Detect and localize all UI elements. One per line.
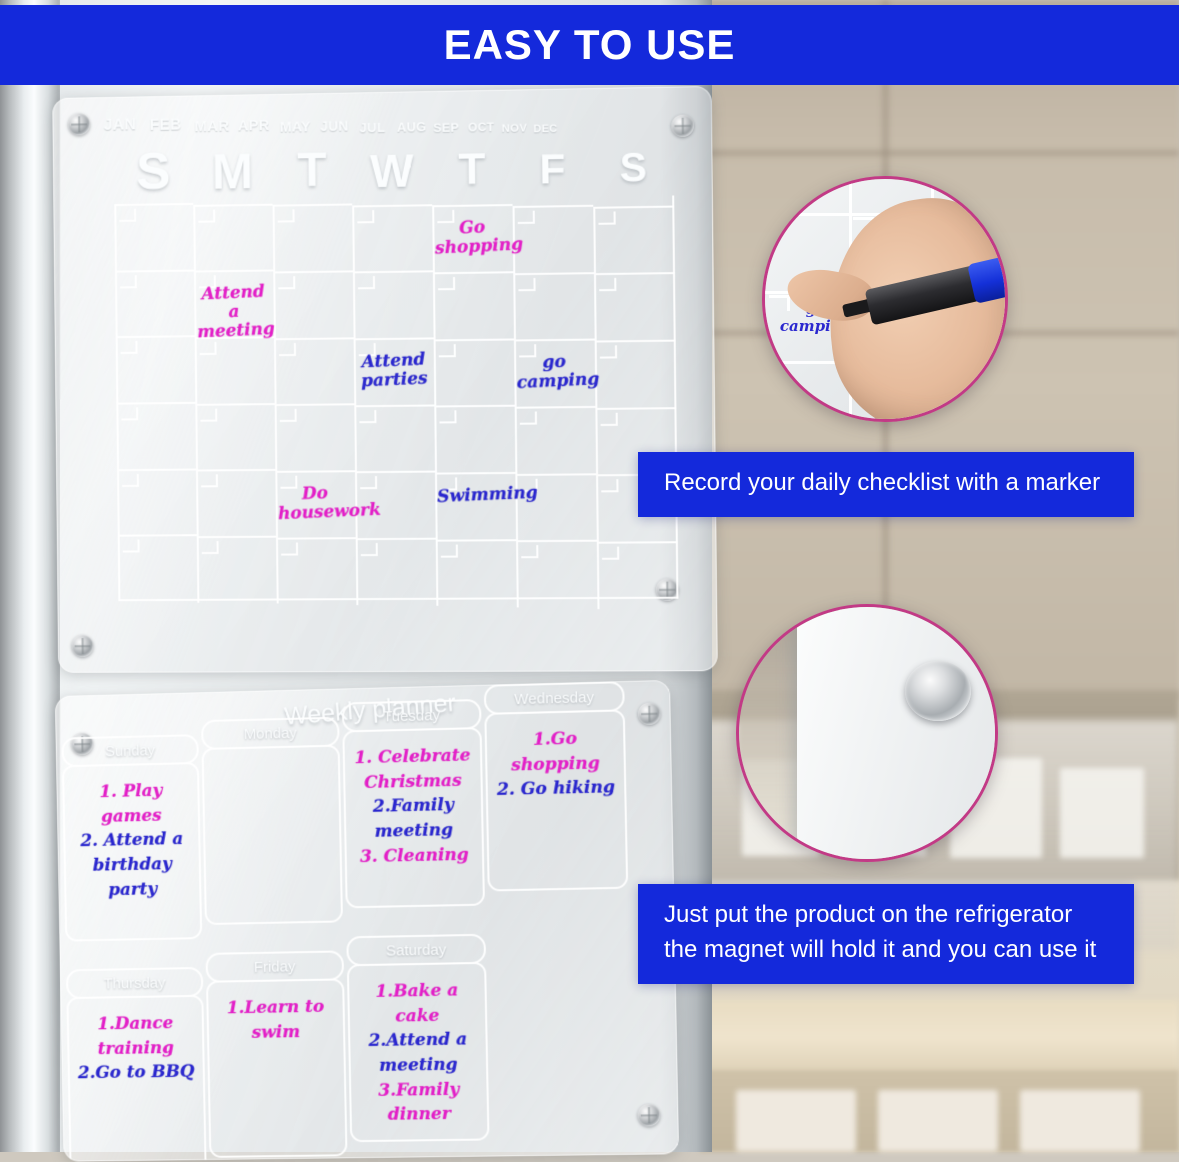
weekly-entry: 1. Celebrate Christmas	[353, 743, 473, 795]
date-number-box	[600, 345, 617, 358]
weekly-entry: 2.Go to BBQ	[77, 1060, 195, 1086]
weekly-planner-board[interactable]: Weekly planner Sunday1. Play games2. Att…	[55, 680, 679, 1162]
calendar-cell[interactable]	[435, 472, 516, 539]
calendar-cell[interactable]	[513, 272, 594, 340]
dow-header-6: S	[592, 133, 674, 197]
cabinet-panel	[1020, 1090, 1140, 1152]
date-number-box	[361, 543, 378, 556]
weekly-day-monday[interactable]: Monday	[201, 717, 343, 925]
weekly-day-thursday[interactable]: Thursday1.Dance training2.Go to BBQ	[66, 967, 207, 1162]
weekly-day-content[interactable]: 1.Bake a cake2.Attend a meeting3.Family …	[347, 962, 490, 1142]
date-number-box	[278, 210, 295, 223]
date-number-box	[601, 479, 618, 492]
calendar-cell[interactable]	[116, 402, 196, 469]
date-number-box	[437, 210, 454, 223]
shelf-box	[1060, 768, 1144, 858]
calendar-cell[interactable]	[116, 336, 196, 403]
inset-magnet-closeup-photo: JA I	[736, 604, 998, 862]
cabinet-panel	[736, 1090, 856, 1152]
date-number-box	[121, 407, 138, 420]
calendar-cell[interactable]	[195, 336, 275, 403]
date-number-box	[600, 412, 617, 425]
weekly-day-content[interactable]: 1.Learn to swim	[206, 978, 347, 1158]
weekly-entry: 1.Dance training	[77, 1011, 195, 1062]
date-number-box	[602, 547, 619, 560]
date-number-box	[121, 341, 138, 354]
weekly-entry: 2.Family meeting	[354, 793, 474, 845]
date-number-box	[520, 412, 537, 425]
monthly-grid[interactable]	[114, 195, 678, 601]
weekly-entry: 2.Attend a meeting	[358, 1027, 478, 1078]
month-label-apr: APR	[238, 118, 270, 134]
calendar-cell[interactable]	[593, 205, 675, 273]
calendar-cell[interactable]	[594, 272, 676, 340]
month-label-jun: JUN	[320, 119, 349, 134]
calendar-cell[interactable]	[433, 271, 514, 339]
calendar-cell[interactable]	[273, 270, 353, 338]
weekly-day-label: Monday	[244, 724, 297, 742]
calendar-cell[interactable]	[432, 204, 513, 272]
calendar-cell[interactable]	[115, 269, 195, 336]
month-label-aug: AUG	[397, 120, 427, 135]
calendar-cell[interactable]	[276, 537, 356, 604]
date-number-box	[198, 209, 215, 222]
calendar-cell[interactable]	[356, 538, 437, 605]
calendar-cell[interactable]	[516, 540, 597, 607]
magnet-stud-closeup	[905, 661, 971, 721]
month-label-dec: DEC	[533, 123, 557, 135]
date-number-box	[358, 277, 375, 290]
calendar-cell[interactable]	[352, 204, 433, 272]
weekly-day-label: Tuesday	[383, 707, 440, 725]
date-number-box	[279, 343, 296, 356]
monthly-calendar-board[interactable]: JANFEBMARAPRMAYJUNJULAUGSEPOCTNOVDEC SMT…	[52, 86, 718, 673]
month-label-feb: FEB	[150, 117, 182, 135]
calendar-cell[interactable]	[595, 340, 677, 408]
weekly-entry: 1.Go shopping	[495, 726, 616, 778]
date-number-box	[122, 474, 139, 487]
dow-header-3: W	[351, 137, 432, 200]
caption-record-checklist: Record your daily checklist with a marke…	[638, 452, 1134, 517]
calendar-cell[interactable]	[355, 471, 436, 538]
banner-title: EASY TO USE	[444, 21, 736, 69]
date-number-box	[599, 278, 616, 291]
weekly-day-tuesday[interactable]: Tuesday1. Celebrate Christmas2.Family me…	[342, 699, 485, 908]
caption-magnet-hold: Just put the product on the refrigerator…	[638, 884, 1134, 984]
date-number-box	[521, 545, 538, 558]
date-number-box	[439, 344, 456, 357]
calendar-cell[interactable]	[436, 539, 517, 606]
inset-date-box	[769, 295, 789, 298]
magnet-stud	[637, 1104, 660, 1126]
calendar-cell[interactable]	[434, 405, 515, 473]
month-label-may: MAY	[280, 118, 311, 135]
month-label-jan: JAN	[104, 116, 137, 134]
dow-header-0: S	[114, 141, 194, 204]
magnet-stud	[671, 114, 694, 137]
weekly-entry: 1. Play games	[72, 778, 190, 830]
wall-seam	[700, 150, 1179, 156]
calendar-cell[interactable]	[515, 406, 596, 474]
calendar-cell[interactable]	[117, 468, 197, 535]
weekly-day-label: Friday	[254, 958, 296, 976]
weekly-day-label: Thursday	[104, 974, 166, 992]
calendar-cell[interactable]	[354, 338, 435, 406]
day-of-week-header-row: SMTWTFS	[114, 133, 675, 204]
weekly-day-content[interactable]: 1.Dance training2.Go to BBQ	[66, 995, 206, 1162]
magnet-stud	[72, 635, 94, 657]
date-number-box	[120, 275, 137, 288]
date-number-box	[202, 541, 219, 554]
dow-header-1: M	[193, 140, 273, 203]
date-number-box	[518, 278, 535, 291]
date-number-box	[200, 342, 217, 355]
month-label-nov: NOV	[501, 122, 527, 134]
weekly-day-friday[interactable]: Friday1.Learn to swim	[205, 950, 347, 1158]
calendar-cell[interactable]	[193, 203, 273, 271]
weekly-entry: 1.Learn to swim	[216, 995, 335, 1046]
weekly-day-wednesday[interactable]: Wednesday1.Go shopping2. Go hiking	[484, 681, 628, 891]
dow-header-5: F	[512, 134, 593, 198]
date-number-box	[441, 544, 458, 557]
calendar-cell[interactable]	[514, 339, 595, 407]
calendar-cell[interactable]	[194, 270, 274, 337]
date-number-box	[280, 476, 297, 489]
weekly-day-content[interactable]: 1.Go shopping2. Go hiking	[484, 709, 628, 891]
magnet-stud	[638, 702, 661, 725]
calendar-cell[interactable]	[197, 536, 277, 603]
date-number-box	[520, 478, 537, 491]
weekly-entry: 2. Go hiking	[496, 775, 617, 803]
calendar-cell[interactable]	[273, 204, 353, 272]
cabinet-panel	[878, 1090, 998, 1152]
date-number-box	[519, 345, 536, 358]
date-number-box	[359, 343, 376, 356]
month-label-sep: SEP	[433, 121, 459, 135]
weekly-day-content[interactable]: 1. Celebrate Christmas2.Family meeting3.…	[342, 727, 485, 908]
date-number-box	[360, 476, 377, 489]
calendar-cell[interactable]	[515, 473, 596, 541]
calendar-cell[interactable]	[354, 404, 435, 471]
calendar-cell[interactable]	[118, 535, 198, 602]
calendar-cell[interactable]	[195, 403, 275, 470]
date-number-box	[280, 409, 297, 422]
weekly-day-label: Wednesday	[514, 688, 594, 707]
weekly-entry: 3. Cleaning	[355, 842, 475, 869]
date-number-box	[281, 542, 298, 555]
date-number-box	[278, 276, 295, 289]
month-label-jul: JUL	[359, 120, 385, 135]
calendar-cell[interactable]	[353, 271, 434, 339]
weekly-day-sunday[interactable]: Sunday1. Play games2. Attend a birthday …	[61, 734, 202, 942]
countertop	[700, 1000, 1179, 1075]
date-number-box	[518, 211, 535, 224]
date-number-box	[440, 477, 457, 490]
weekly-entry: 2. Attend a birthday party	[73, 827, 192, 903]
dow-header-2: T	[272, 139, 352, 202]
top-banner: EASY TO USE	[0, 5, 1179, 85]
date-number-box	[598, 211, 615, 224]
weekly-day-content[interactable]	[202, 745, 343, 925]
calendar-cell[interactable]	[597, 541, 679, 609]
date-number-box	[439, 411, 456, 424]
calendar-cell[interactable]	[275, 470, 355, 537]
magnet-stud	[68, 113, 90, 135]
date-number-box	[119, 209, 136, 222]
calendar-cell[interactable]	[114, 203, 194, 270]
weekly-day-content[interactable]: 1. Play games2. Attend a birthday party	[62, 762, 202, 942]
date-number-box	[200, 408, 217, 421]
date-number-box	[359, 410, 376, 423]
weekly-day-label: Sunday	[105, 742, 155, 760]
weekly-day-label: Saturday	[386, 941, 446, 959]
calendar-cell[interactable]	[434, 338, 515, 406]
date-number-box	[357, 210, 374, 223]
calendar-cell[interactable]	[513, 205, 594, 273]
calendar-cell[interactable]	[274, 337, 354, 404]
date-number-box	[123, 540, 140, 553]
weekly-entry: 1.Bake a cake	[357, 978, 477, 1029]
inset-hand-writing-photo: go camping	[762, 176, 1008, 422]
calendar-cell[interactable]	[275, 403, 355, 470]
month-label-oct: OCT	[468, 121, 494, 134]
calendar-cell[interactable]	[196, 469, 276, 536]
weekly-entry: 3.Family dinner	[359, 1077, 479, 1128]
dow-header-4: T	[431, 136, 512, 199]
board-corner: JA I	[797, 604, 998, 862]
date-number-box	[201, 475, 218, 488]
date-number-box	[438, 277, 455, 290]
date-number-box	[199, 275, 216, 288]
month-label-mar: MAR	[194, 117, 229, 135]
weekly-day-saturday[interactable]: Saturday1.Bake a cake2.Attend a meeting3…	[346, 934, 489, 1142]
